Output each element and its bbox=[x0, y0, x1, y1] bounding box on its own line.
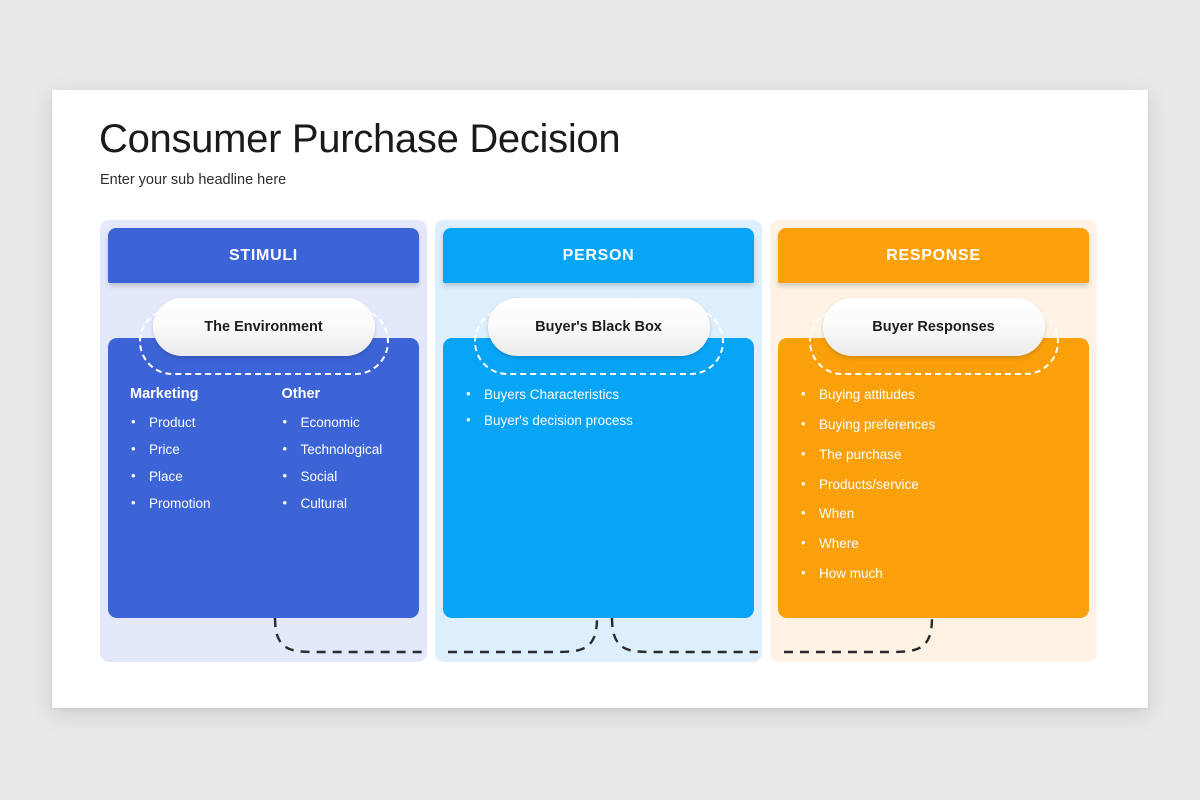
page-subtitle: Enter your sub headline here bbox=[100, 172, 286, 188]
list-item: Buyer's decision process bbox=[465, 414, 732, 429]
column-header-response: RESPONSE bbox=[778, 228, 1089, 283]
list-item: Products/service bbox=[800, 478, 1067, 493]
column-content-stimuli: Marketing Product Price Place Promotion … bbox=[108, 386, 419, 618]
column-content-person: Buyers Characteristics Buyer's decision … bbox=[443, 386, 754, 618]
pill-label-response[interactable]: Buyer Responses bbox=[823, 298, 1045, 356]
list-item: How much bbox=[800, 567, 1067, 582]
list-item: Place bbox=[130, 470, 264, 485]
pill-label-stimuli[interactable]: The Environment bbox=[153, 298, 375, 356]
column-content-response: Buying attitudes Buying preferences The … bbox=[778, 386, 1089, 618]
slide-card: Consumer Purchase Decision Enter your su… bbox=[52, 90, 1148, 708]
column-stimuli[interactable]: STIMULI The Environment Marketing Produc… bbox=[100, 220, 427, 662]
list-item: Buying attitudes bbox=[800, 388, 1067, 403]
column-person[interactable]: PERSON Buyer's Black Box Buyers Characte… bbox=[435, 220, 762, 662]
diagram-columns: STIMULI The Environment Marketing Produc… bbox=[100, 220, 1098, 662]
list-marketing: Product Price Place Promotion bbox=[130, 416, 264, 511]
list-item: Technological bbox=[282, 443, 398, 458]
list-response: Buying attitudes Buying preferences The … bbox=[800, 386, 1067, 582]
column-body-person: Buyer's Black Box Buyers Characteristics… bbox=[443, 338, 754, 618]
list-item: Product bbox=[130, 416, 264, 431]
list-item: Cultural bbox=[282, 497, 398, 512]
list-item: Buyers Characteristics bbox=[465, 388, 732, 403]
list-item: Where bbox=[800, 537, 1067, 552]
slide-canvas: Consumer Purchase Decision Enter your su… bbox=[0, 0, 1200, 800]
list-other: Economic Technological Social Cultural bbox=[282, 416, 398, 511]
list-item: Social bbox=[282, 470, 398, 485]
column-body-response: Buyer Responses Buying attitudes Buying … bbox=[778, 338, 1089, 618]
subcolumn-heading-other: Other bbox=[282, 386, 398, 402]
column-response[interactable]: RESPONSE Buyer Responses Buying attitude… bbox=[770, 220, 1097, 662]
subcolumns-stimuli: Marketing Product Price Place Promotion … bbox=[130, 386, 397, 523]
list-item: Economic bbox=[282, 416, 398, 431]
pill-label-person[interactable]: Buyer's Black Box bbox=[488, 298, 710, 356]
subcolumn-other: Other Economic Technological Social Cult… bbox=[264, 386, 398, 523]
subcolumn-heading-marketing: Marketing bbox=[130, 386, 264, 402]
list-item: Promotion bbox=[130, 497, 264, 512]
list-item: The purchase bbox=[800, 448, 1067, 463]
list-person: Buyers Characteristics Buyer's decision … bbox=[465, 386, 732, 429]
list-item: Buying preferences bbox=[800, 418, 1067, 433]
column-body-stimuli: The Environment Marketing Product Price … bbox=[108, 338, 419, 618]
list-item: When bbox=[800, 507, 1067, 522]
list-item: Price bbox=[130, 443, 264, 458]
page-title: Consumer Purchase Decision bbox=[99, 117, 620, 162]
column-header-person: PERSON bbox=[443, 228, 754, 283]
column-header-stimuli: STIMULI bbox=[108, 228, 419, 283]
subcolumn-marketing: Marketing Product Price Place Promotion bbox=[130, 386, 264, 523]
